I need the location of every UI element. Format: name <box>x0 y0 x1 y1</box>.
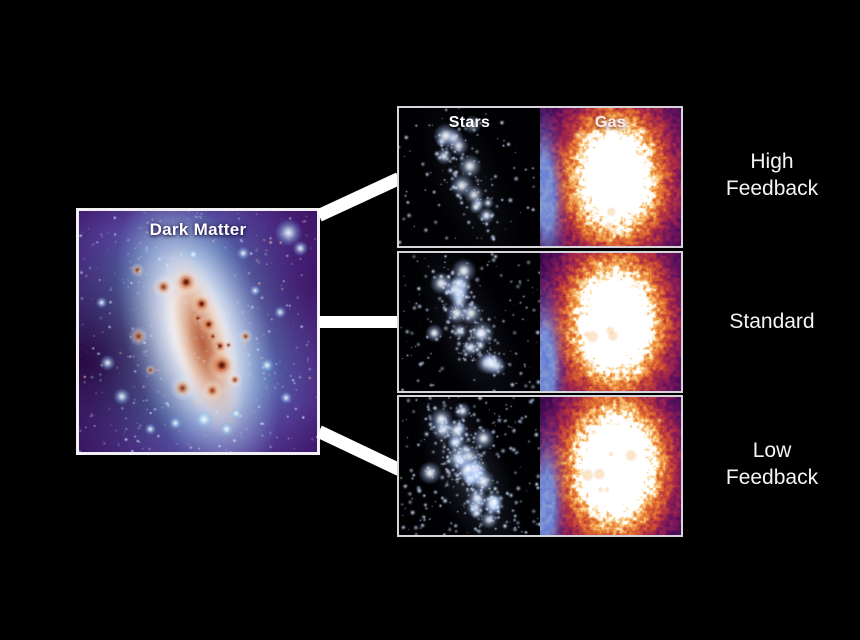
gas-canvas-standard <box>540 253 681 391</box>
row-label-low-feedback: Low Feedback <box>692 437 852 492</box>
panel-row-high-feedback: Stars Gas <box>397 106 683 248</box>
row-label-standard: Standard <box>692 308 852 335</box>
stars-image-standard <box>399 253 540 391</box>
stars-canvas-standard <box>399 253 540 391</box>
row-label-low-line2: Feedback <box>692 464 852 491</box>
panel-row-low-feedback <box>397 395 683 537</box>
connector-high <box>316 172 401 221</box>
stars-canvas-high <box>399 108 540 246</box>
row-label-high-line1: High <box>692 148 852 175</box>
row-label-high-line2: Feedback <box>692 175 852 202</box>
row-label-standard-line1: Standard <box>692 308 852 335</box>
stars-canvas-low <box>399 397 540 535</box>
figure-canvas: Dark Matter Stars Gas High Feedback <box>0 0 860 640</box>
gas-image-low <box>540 397 681 535</box>
row-label-high-feedback: High Feedback <box>692 148 852 203</box>
stars-image-high: Stars <box>399 108 540 246</box>
connector-standard <box>319 316 399 328</box>
row-label-low-line1: Low <box>692 437 852 464</box>
gas-canvas-low <box>540 397 681 535</box>
dark-matter-panel: Dark Matter <box>76 208 320 455</box>
stars-image-low <box>399 397 540 535</box>
connector-low <box>316 425 402 475</box>
gas-image-high: Gas <box>540 108 681 246</box>
gas-image-standard <box>540 253 681 391</box>
gas-canvas-high <box>540 108 681 246</box>
dark-matter-image <box>79 211 317 452</box>
panel-row-standard <box>397 251 683 393</box>
